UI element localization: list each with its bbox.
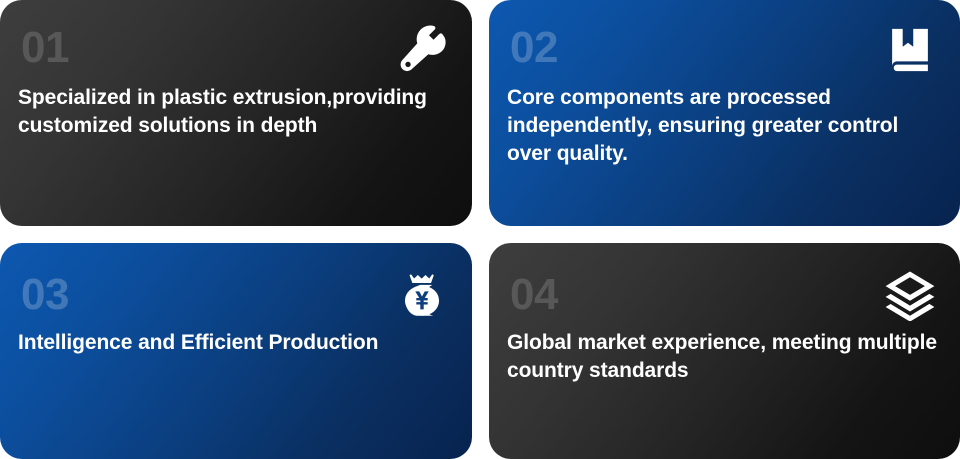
book-bookmark-icon bbox=[884, 24, 936, 76]
card-description-04: Global market experience, meeting multip… bbox=[507, 329, 937, 385]
feature-card-02[interactable]: 02 Core components are processed indepen… bbox=[489, 0, 960, 226]
card-description-03: Intelligence and Efficient Production bbox=[18, 329, 448, 357]
card-description-02: Core components are processed independen… bbox=[507, 84, 937, 168]
feature-cards-grid: 01 Specialized in plastic extrusion,prov… bbox=[0, 0, 960, 459]
feature-card-03[interactable]: 03 Intelligence and Efficient Production bbox=[0, 243, 472, 459]
money-bag-yen-icon bbox=[396, 269, 448, 321]
card-number-03: 03 bbox=[21, 273, 450, 317]
layers-stack-icon bbox=[884, 269, 936, 321]
card-number-04: 04 bbox=[510, 273, 938, 317]
feature-card-01[interactable]: 01 Specialized in plastic extrusion,prov… bbox=[0, 0, 472, 226]
feature-card-04[interactable]: 04 Global market experience, meeting mul… bbox=[489, 243, 960, 459]
card-description-01: Specialized in plastic extrusion,providi… bbox=[18, 84, 448, 140]
card-number-02: 02 bbox=[510, 26, 938, 70]
wrench-icon bbox=[396, 24, 448, 76]
card-number-01: 01 bbox=[21, 26, 450, 70]
